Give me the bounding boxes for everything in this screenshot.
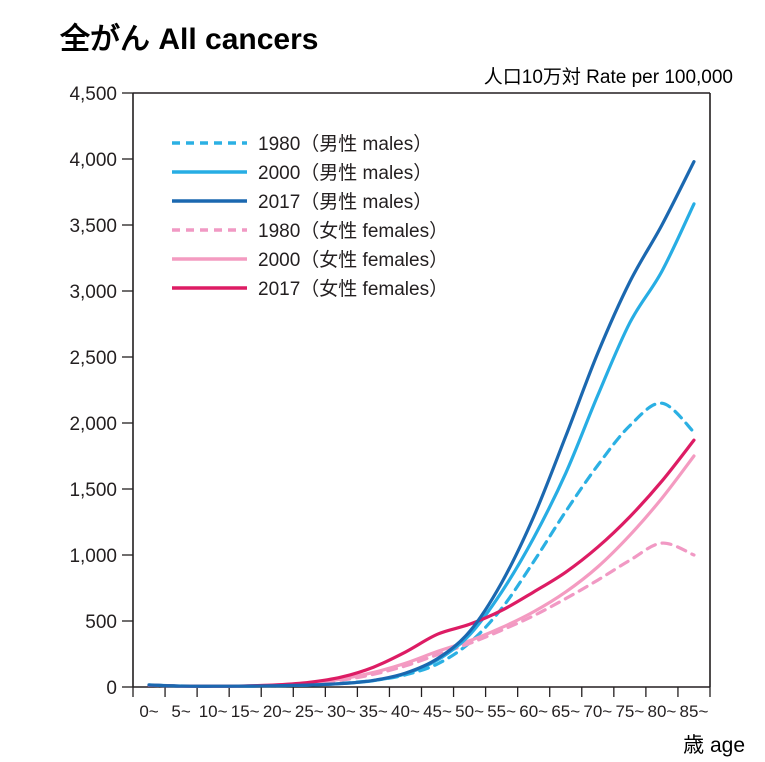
legend-label: 2017（男性 males） — [258, 191, 432, 213]
series-line — [149, 543, 694, 686]
x-tick-label: 30~ — [327, 702, 356, 721]
x-tick-label: 15~ — [231, 702, 260, 721]
y-tick-label: 1,000 — [69, 546, 117, 567]
chart-plot-area: 05001,0001,5002,0002,5003,0003,5004,0004… — [0, 0, 765, 762]
x-tick-label: 60~ — [519, 702, 548, 721]
x-tick-label: 25~ — [295, 702, 324, 721]
legend-label: 2000（男性 males） — [258, 162, 432, 184]
y-tick-label: 4,500 — [69, 84, 117, 105]
y-tick-label: 1,500 — [69, 480, 117, 501]
legend-label: 1980（男性 males） — [258, 133, 432, 155]
x-tick-label: 85~ — [680, 702, 709, 721]
y-tick-label: 2,500 — [69, 348, 117, 369]
x-tick-label: 55~ — [487, 702, 516, 721]
y-tick-label: 0 — [106, 678, 117, 699]
x-tick-label: 0~ — [139, 702, 158, 721]
y-tick-label: 4,000 — [69, 150, 117, 171]
x-tick-label: 10~ — [199, 702, 228, 721]
series-line — [149, 440, 694, 686]
y-tick-label: 3,500 — [69, 216, 117, 237]
y-tick-label: 3,000 — [69, 282, 117, 303]
legend-label: 1980（女性 females） — [258, 220, 448, 242]
x-tick-label: 75~ — [615, 702, 644, 721]
y-tick-label: 500 — [85, 612, 117, 633]
x-tick-label: 35~ — [359, 702, 388, 721]
x-tick-label: 20~ — [263, 702, 292, 721]
legend-label: 2000（女性 females） — [258, 249, 448, 271]
x-tick-label: 45~ — [423, 702, 452, 721]
x-tick-label: 65~ — [551, 702, 580, 721]
x-tick-label: 40~ — [391, 702, 420, 721]
series-line — [149, 204, 694, 686]
x-tick-label: 80~ — [647, 702, 676, 721]
legend-label: 2017（女性 females） — [258, 278, 448, 300]
x-tick-label: 70~ — [583, 702, 612, 721]
y-tick-label: 2,000 — [69, 414, 117, 435]
x-tick-label: 50~ — [455, 702, 484, 721]
x-axis-title: 歳 age — [0, 729, 745, 759]
x-tick-label: 5~ — [171, 702, 190, 721]
chart-svg: 05001,0001,5002,0002,5003,0003,5004,0004… — [0, 0, 765, 762]
